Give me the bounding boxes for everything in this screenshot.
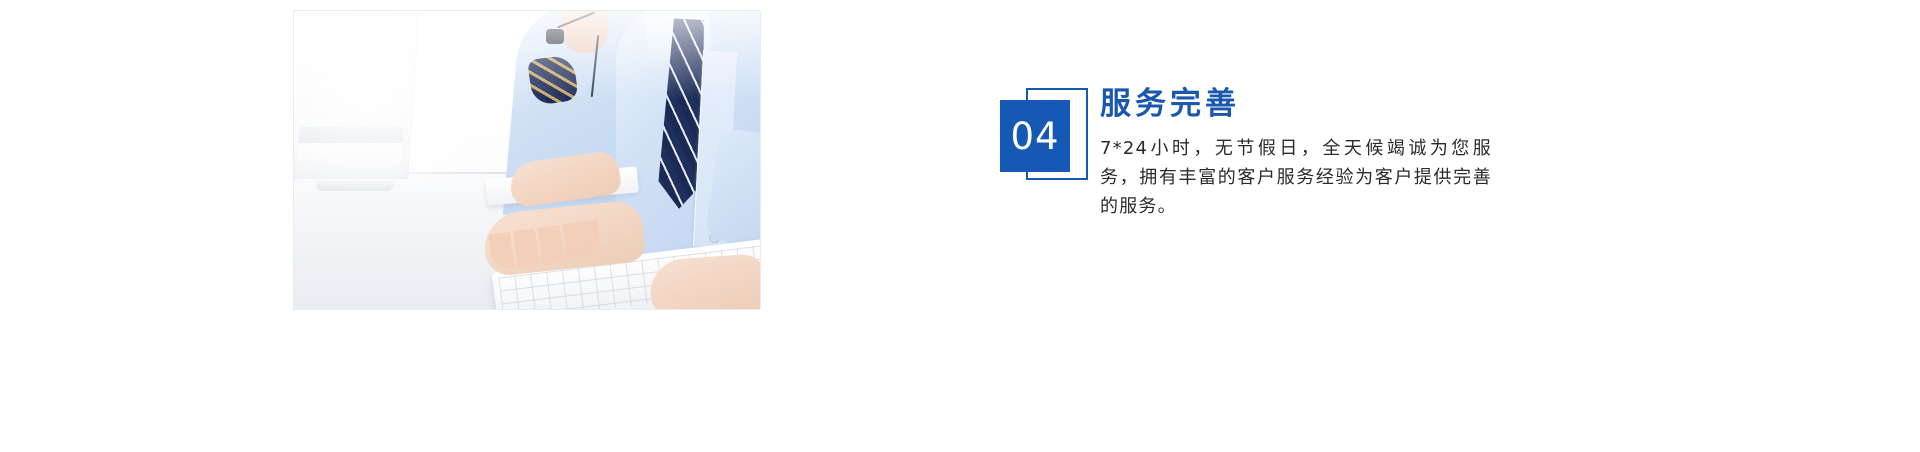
monitor-band	[299, 127, 404, 143]
photo-canvas	[294, 11, 760, 309]
feature-text-column: 服务完善 7*24小时，无节假日，全天候竭诚为您服务，拥有丰富的客户服务经验为客…	[1100, 86, 1620, 221]
badge-number: 04	[1010, 118, 1059, 155]
service-feature-section: 04 服务完善 7*24小时，无节假日，全天候竭诚为您服务，拥有丰富的客户服务经…	[0, 0, 1920, 452]
step-badge: 04	[1000, 88, 1090, 190]
monitor-chin	[297, 143, 403, 171]
feature-description: 7*24小时，无节假日，全天候竭诚为您服务，拥有丰富的客户服务经验为客户提供完善…	[1100, 134, 1492, 221]
badge-fill-square: 04	[1000, 100, 1070, 172]
feature-title: 服务完善	[1100, 86, 1620, 123]
monitor-stand	[315, 181, 395, 191]
customer-service-photo	[293, 10, 761, 310]
headset-mic-icon	[546, 29, 564, 44]
monitor-icon	[293, 10, 420, 179]
